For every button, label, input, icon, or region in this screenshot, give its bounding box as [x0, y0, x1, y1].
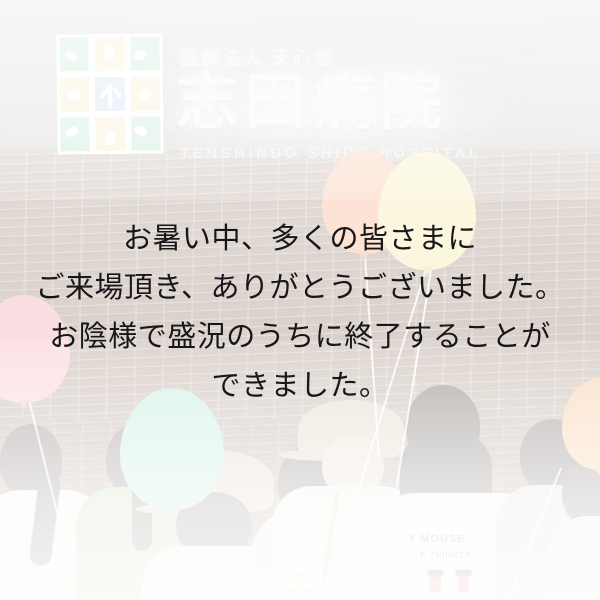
- mickey-mouse-graphic-icon: [458, 577, 469, 592]
- logo-cell-center: [95, 77, 125, 111]
- person-silhouette: [556, 450, 600, 600]
- shirt-graphic-line-1: Y MOUSE: [408, 533, 466, 545]
- logo-cell-bottom-left: [60, 117, 90, 151]
- tote-text-line-2: n never.: [272, 586, 314, 598]
- photo-background: 医療法人 天心堂 志田病院 TENSHINDO SHIDA HOSPITAL: [0, 0, 600, 600]
- petal-icon: [133, 124, 149, 138]
- logo-cell-bottom-right: [131, 116, 161, 150]
- logo-cell-middle-right: [130, 76, 160, 110]
- petal-icon: [64, 124, 80, 138]
- petal-icon: [104, 45, 116, 60]
- petal-icon: [63, 49, 79, 63]
- logo-cell-top-center: [95, 37, 125, 71]
- shirt-graphic-line-2: E THINKER: [420, 551, 472, 560]
- logo-cell-middle-left: [60, 77, 90, 111]
- signage-corporation-label: 医療法人 天心堂: [180, 44, 334, 71]
- logo-cell-top-left: [59, 37, 89, 71]
- mickey-mouse-graphic-icon: [430, 577, 441, 592]
- crowd-of-visitors: er late n never. Y MOUSE E THINKER: [0, 370, 600, 600]
- petal-icon: [105, 131, 116, 146]
- balloon-mint: [120, 388, 224, 510]
- petal-icon: [67, 90, 81, 100]
- hospital-logo: [56, 33, 163, 154]
- announcement-image: 医療法人 天心堂 志田病院 TENSHINDO SHIDA HOSPITAL: [0, 0, 600, 600]
- balloon-cream: [378, 152, 476, 270]
- petal-icon: [138, 90, 152, 100]
- petal-icon: [132, 48, 148, 62]
- sprout-leaf-right-icon: [111, 86, 122, 99]
- logo-cell-top-right: [130, 36, 160, 70]
- logo-cell-bottom-center: [96, 117, 126, 151]
- tote-text-line-1: er late: [276, 568, 308, 580]
- signage-hospital-name: 志田病院: [176, 72, 448, 134]
- torso: [548, 516, 600, 600]
